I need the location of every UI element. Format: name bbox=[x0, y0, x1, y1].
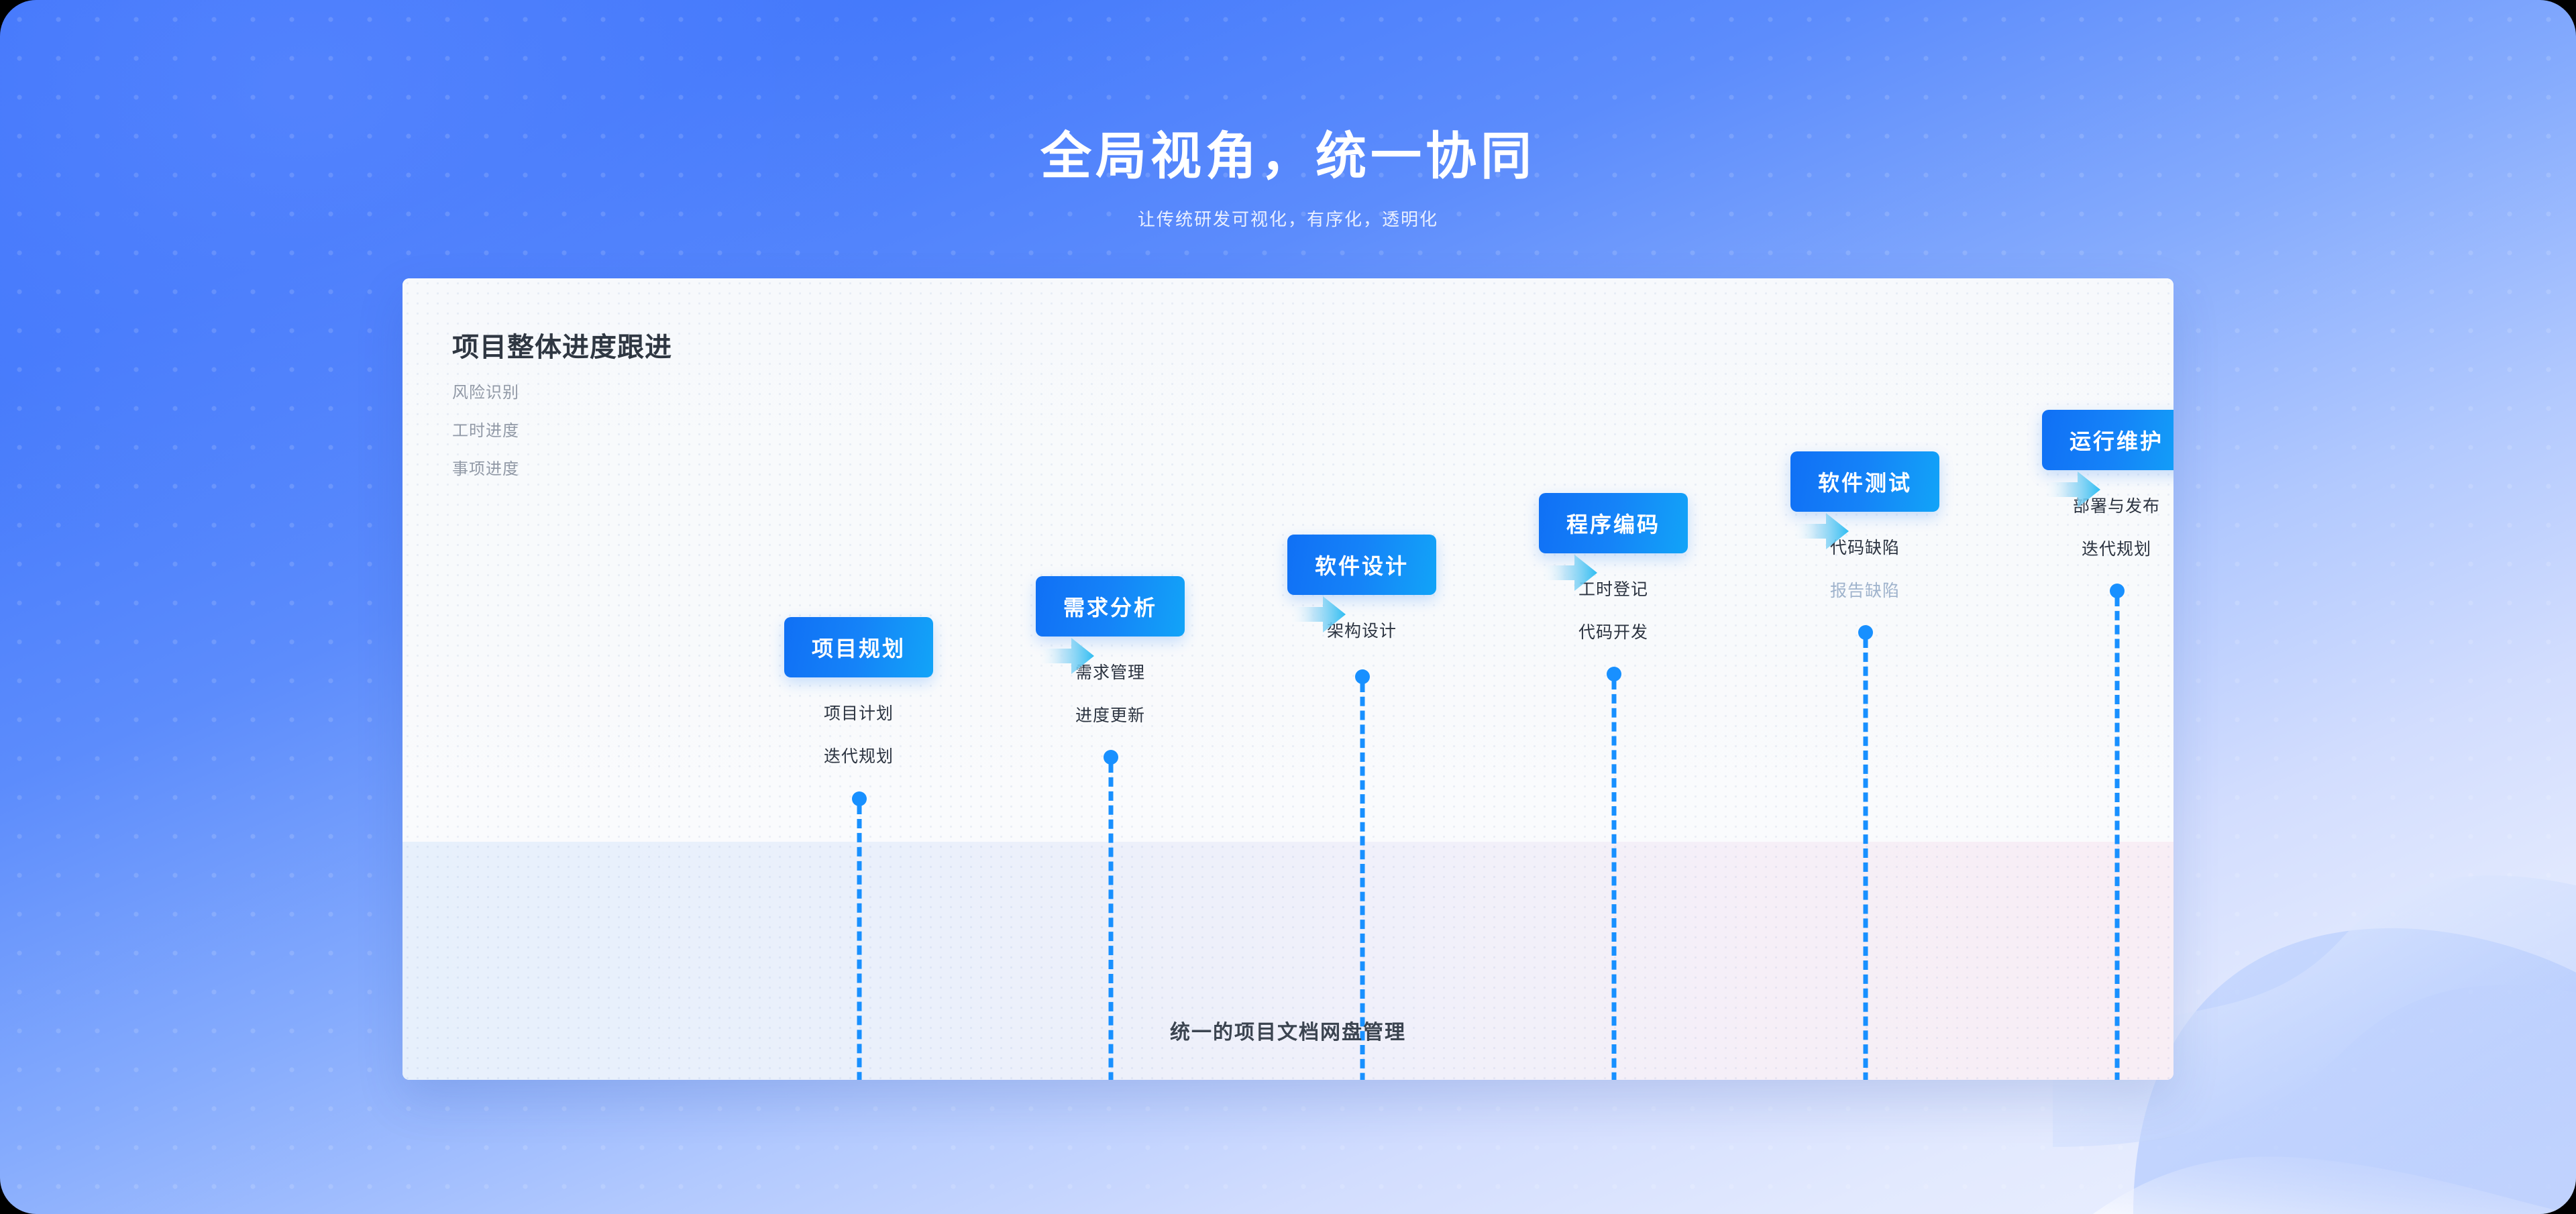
flow-step-1-sub-1: 迭代规划 bbox=[758, 743, 959, 767]
card-bullet-1: 工时进度 bbox=[452, 417, 672, 441]
flow-arrow-1-2 bbox=[1036, 635, 1094, 677]
flow-step-6-sub-1: 迭代规划 bbox=[2016, 536, 2173, 560]
flow-arrow-2-3 bbox=[1288, 594, 1346, 635]
flow-arrow-5-6 bbox=[2043, 469, 2100, 510]
flow-step-6-chip[interactable]: 运行维护 bbox=[2042, 410, 2173, 470]
flow-step-1-subs: 项目计划 迭代规划 bbox=[758, 700, 959, 767]
card-header: 项目整体进度跟进 风险识别 工时进度 事项进度 bbox=[452, 325, 672, 479]
card-bullet-0: 风险识别 bbox=[452, 379, 672, 402]
dot-icon bbox=[2110, 584, 2125, 598]
card-footer-note: 统一的项目文档网盘管理 bbox=[402, 1015, 2173, 1045]
connector-5 bbox=[1857, 625, 1874, 1080]
flow-step-2-chip[interactable]: 需求分析 bbox=[1036, 576, 1185, 637]
flow-step-4-sub-1: 代码开发 bbox=[1513, 619, 1714, 643]
flow-step-4-chip[interactable]: 程序编码 bbox=[1539, 493, 1688, 553]
card-title: 项目整体进度跟进 bbox=[452, 325, 672, 364]
dot-icon bbox=[852, 791, 867, 806]
page-subtitle: 让传统研发可视化，有序化，透明化 bbox=[0, 206, 2576, 231]
card-bullet-2: 事项进度 bbox=[452, 455, 672, 479]
dot-icon bbox=[1104, 750, 1118, 765]
flow-step-2-sub-1: 进度更新 bbox=[1010, 702, 1211, 726]
page-root: 全局视角，统一协同 让传统研发可视化，有序化，透明化 项目整体进度跟进 风险识别… bbox=[0, 0, 2576, 1214]
flow-arrow-3-4 bbox=[1540, 552, 1597, 594]
hero-section: 全局视角，统一协同 让传统研发可视化，有序化，透明化 bbox=[0, 127, 2576, 231]
connector-line bbox=[2115, 597, 2120, 1080]
flow-step-3-chip[interactable]: 软件设计 bbox=[1287, 535, 1436, 595]
flow-step-1-chip[interactable]: 项目规划 bbox=[784, 617, 933, 677]
flow-arrow-4-5 bbox=[1791, 510, 1849, 552]
dot-icon bbox=[1355, 669, 1370, 684]
flow-step-1-sub-0: 项目计划 bbox=[758, 700, 959, 724]
connector-line bbox=[1864, 639, 1868, 1080]
connector-6 bbox=[2108, 584, 2126, 1080]
flow-step-5-sub-1: 报告缺陷 bbox=[1764, 577, 1966, 602]
page-title: 全局视角，统一协同 bbox=[0, 127, 2576, 186]
flow-card: 项目整体进度跟进 风险识别 工时进度 事项进度 项目规划 项目计划 迭代规划 需… bbox=[402, 278, 2173, 1080]
dot-icon bbox=[1858, 625, 1873, 640]
dot-icon bbox=[1607, 667, 1621, 681]
flow-step-5-chip[interactable]: 软件测试 bbox=[1790, 451, 1939, 512]
flow-step-1[interactable]: 项目规划 项目计划 迭代规划 bbox=[758, 617, 959, 767]
